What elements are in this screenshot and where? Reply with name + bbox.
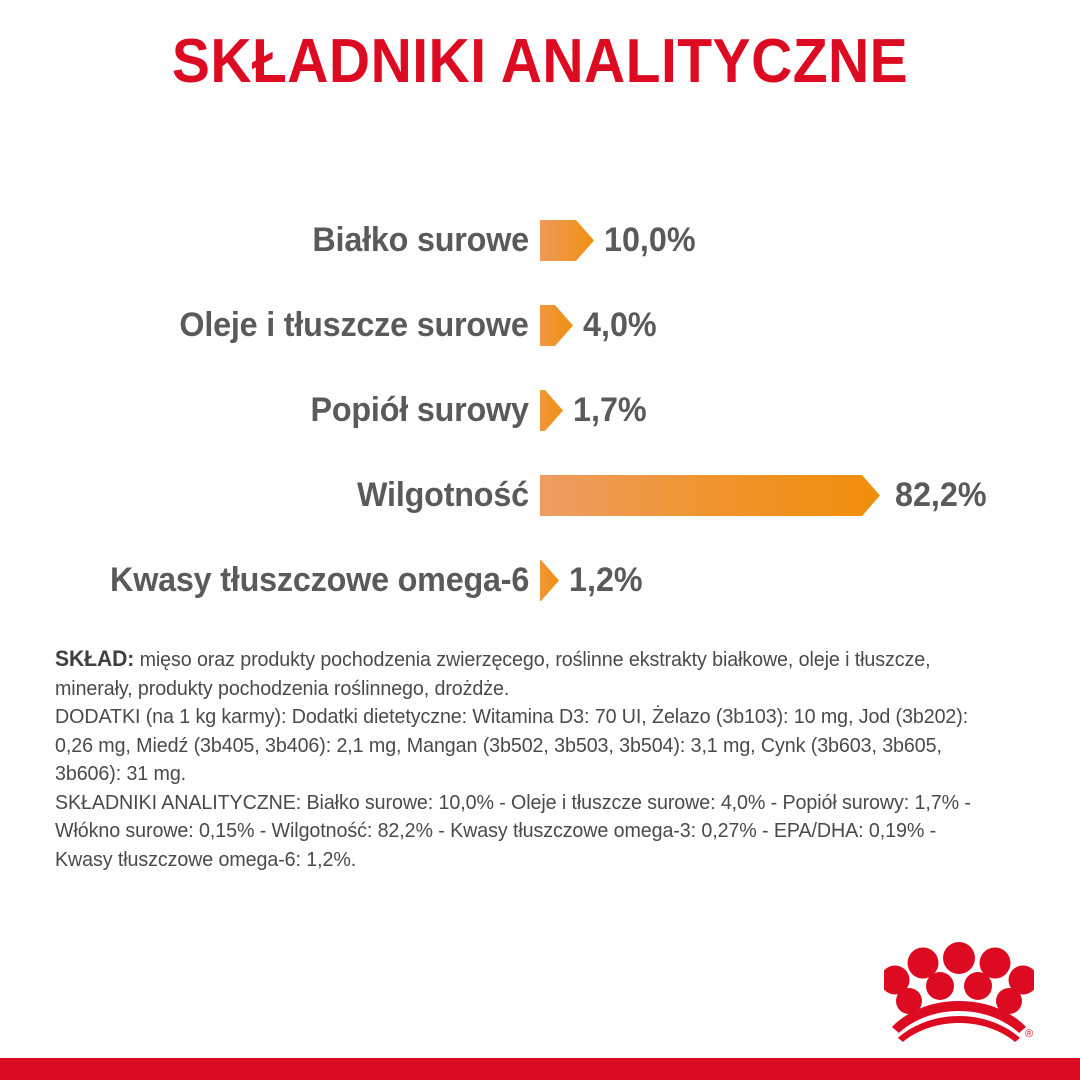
bar-shape-popiol-surowy xyxy=(540,390,563,431)
bar-row-bialko-surowe: Białko surowe 10,0% xyxy=(0,198,1080,283)
bar-value-kwasy-tluszczowe-omega-6: 1,2% xyxy=(569,538,643,623)
bar-value-oleje-i-tluszcze-surowe: 4,0% xyxy=(583,283,657,368)
registered-trademark-mark: ® xyxy=(1025,1028,1033,1040)
bar-track-wilgotnosc xyxy=(540,475,880,516)
bar-row-wilgotnosc: Wilgotność 82,2% xyxy=(0,453,1080,538)
composition-paragraph-additives: DODATKI (na 1 kg karmy): Dodatki dietety… xyxy=(55,703,991,789)
bar-shape-oleje-i-tluszcze-surowe xyxy=(540,305,573,346)
bar-row-oleje-i-tluszcze-surowe: Oleje i tłuszcze surowe 4,0% xyxy=(0,283,1080,368)
bar-row-popiol-surowy: Popiół surowy 1,7% xyxy=(0,368,1080,453)
bar-track-oleje-i-tluszcze-surowe xyxy=(540,305,573,346)
analytical-constituents-page: SKŁADNIKI ANALITYCZNE Białko surowe 10,0… xyxy=(0,0,1080,1080)
bar-track-bialko-surowe xyxy=(540,220,594,261)
crown-dot-mid-2 xyxy=(964,972,992,1000)
crown-dot-top-1 xyxy=(943,942,975,974)
crown-logo-svg: ® xyxy=(884,938,1034,1043)
bar-label-oleje-i-tluszcze-surowe: Oleje i tłuszcze surowe xyxy=(180,283,529,368)
bar-value-wilgotnosc: 82,2% xyxy=(895,453,987,538)
crown-dot-mid-1 xyxy=(926,972,954,1000)
composition-paragraph-analytical: SKŁADNIKI ANALITYCZNE: Białko surowe: 10… xyxy=(55,789,991,875)
bar-label-kwasy-tluszczowe-omega-6: Kwasy tłuszczowe omega-6 xyxy=(110,538,529,623)
composition-lead-label: SKŁAD: xyxy=(55,646,134,671)
bar-track-kwasy-tluszczowe-omega-6 xyxy=(540,560,559,601)
page-title: SKŁADNIKI ANALITYCZNE xyxy=(43,26,1037,98)
bar-shape-wilgotnosc xyxy=(540,475,880,516)
bar-row-kwasy-tluszczowe-omega-6: Kwasy tłuszczowe omega-6 1,2% xyxy=(0,538,1080,623)
bottom-red-band xyxy=(0,1058,1080,1080)
bar-label-bialko-surowe: Białko surowe xyxy=(312,198,529,283)
bar-track-popiol-surowy xyxy=(540,390,563,431)
bar-value-bialko-surowe: 10,0% xyxy=(604,198,696,283)
royal-canin-crown-logo: ® xyxy=(884,938,1034,1043)
analytical-constituents-chart: Białko surowe 10,0% Oleje i tłuszcze sur… xyxy=(0,198,1080,623)
bar-value-popiol-surowy: 1,7% xyxy=(573,368,647,453)
bar-shape-kwasy-tluszczowe-omega-6 xyxy=(540,560,559,601)
bar-label-popiol-surowy: Popiół surowy xyxy=(311,368,529,453)
composition-ingredients: mięso oraz produkty pochodzenia zwierzęc… xyxy=(55,648,930,700)
composition-text-block: SKŁAD: mięso oraz produkty pochodzenia z… xyxy=(55,645,991,874)
composition-paragraph-skład: SKŁAD: mięso oraz produkty pochodzenia z… xyxy=(55,645,991,703)
bar-label-wilgotnosc: Wilgotność xyxy=(357,453,529,538)
bar-shape-bialko-surowe xyxy=(540,220,594,261)
